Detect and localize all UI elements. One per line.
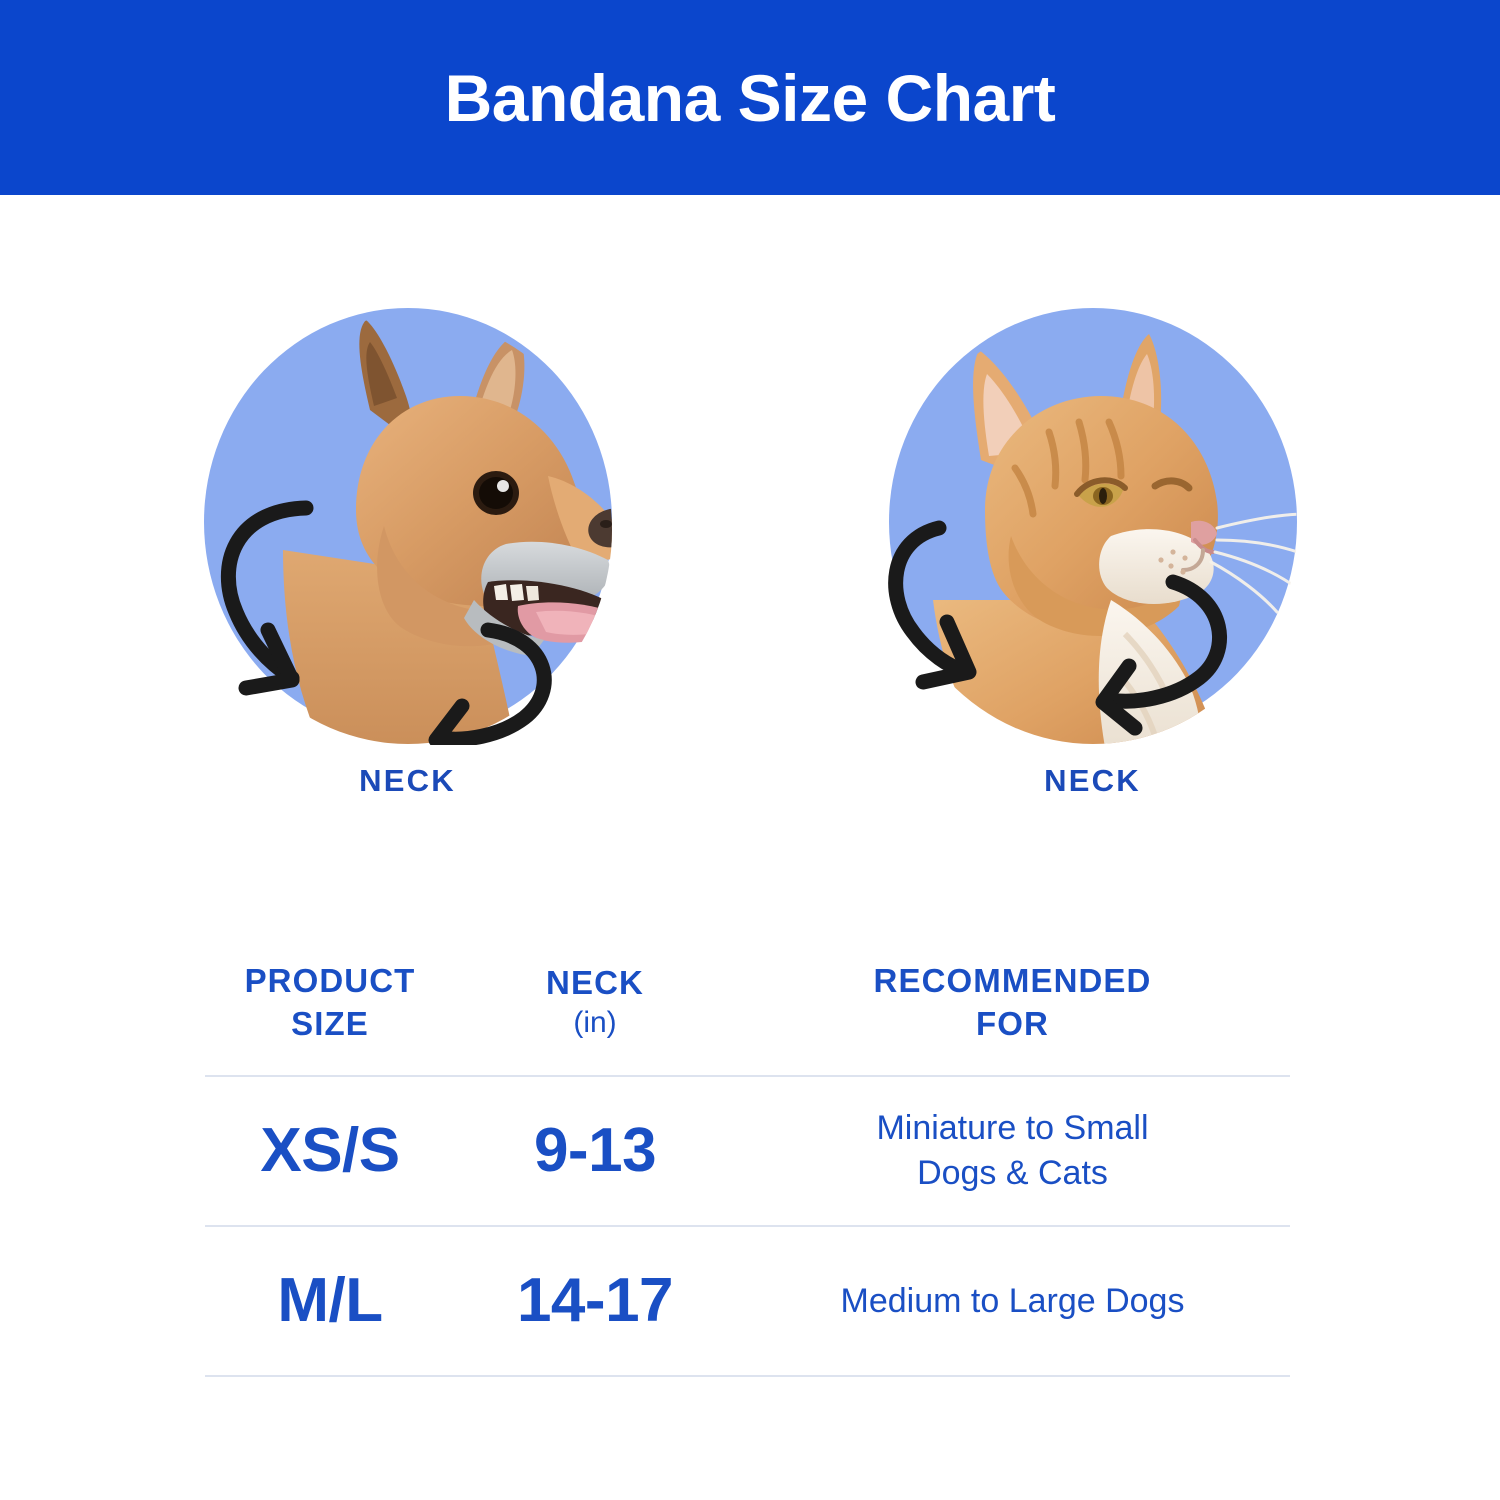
table-divider-bottom <box>205 1375 1290 1377</box>
cat-circle-wrap <box>873 300 1313 745</box>
page-header: Bandana Size Chart <box>0 0 1500 195</box>
recommended-value-line1: Miniature to Small <box>876 1106 1148 1151</box>
cat-neck-measure-arrows <box>873 300 1313 745</box>
recommended-header-line1: RECOMMENDED <box>874 960 1152 1002</box>
column-header-product-size: PRODUCT SIZE <box>205 960 455 1044</box>
neck-header-line1: NECK <box>546 962 644 1004</box>
page-title: Bandana Size Chart <box>445 65 1056 131</box>
neck-value: 9-13 <box>534 1118 656 1183</box>
product-size-header-line2: SIZE <box>291 1003 369 1045</box>
product-size-value: XS/S <box>260 1118 399 1183</box>
recommended-value-line2: Dogs & Cats <box>917 1151 1108 1196</box>
cell-neck: 14-17 <box>455 1268 735 1333</box>
cat-illustration-block: NECK <box>858 300 1328 799</box>
cell-recommended-for: Medium to Large Dogs <box>735 1279 1290 1324</box>
cell-product-size: M/L <box>205 1268 455 1333</box>
size-chart-table: PRODUCT SIZE NECK (in) RECOMMENDED FOR X… <box>205 930 1290 1377</box>
product-size-value: M/L <box>277 1268 382 1333</box>
column-header-neck: NECK (in) <box>455 962 735 1043</box>
table-row: M/L 14-17 Medium to Large Dogs <box>205 1227 1290 1375</box>
dog-neck-measure-arrows <box>188 300 628 745</box>
cat-neck-label: NECK <box>1044 763 1141 799</box>
table-header-row: PRODUCT SIZE NECK (in) RECOMMENDED FOR <box>205 930 1290 1075</box>
cell-product-size: XS/S <box>205 1118 455 1183</box>
recommended-header-line2: FOR <box>976 1003 1049 1045</box>
cell-recommended-for: Miniature to Small Dogs & Cats <box>735 1106 1290 1196</box>
table-row: XS/S 9-13 Miniature to Small Dogs & Cats <box>205 1077 1290 1225</box>
product-size-header-line1: PRODUCT <box>245 960 416 1002</box>
cell-neck: 9-13 <box>455 1118 735 1183</box>
recommended-value-line1: Medium to Large Dogs <box>841 1279 1185 1324</box>
column-header-recommended-for: RECOMMENDED FOR <box>735 960 1290 1044</box>
neck-value: 14-17 <box>517 1268 673 1333</box>
illustration-row: NECK <box>0 300 1500 830</box>
dog-neck-label: NECK <box>359 763 456 799</box>
dog-illustration-block: NECK <box>173 300 643 799</box>
dog-circle-wrap <box>188 300 628 745</box>
neck-header-unit: (in) <box>573 1004 616 1042</box>
